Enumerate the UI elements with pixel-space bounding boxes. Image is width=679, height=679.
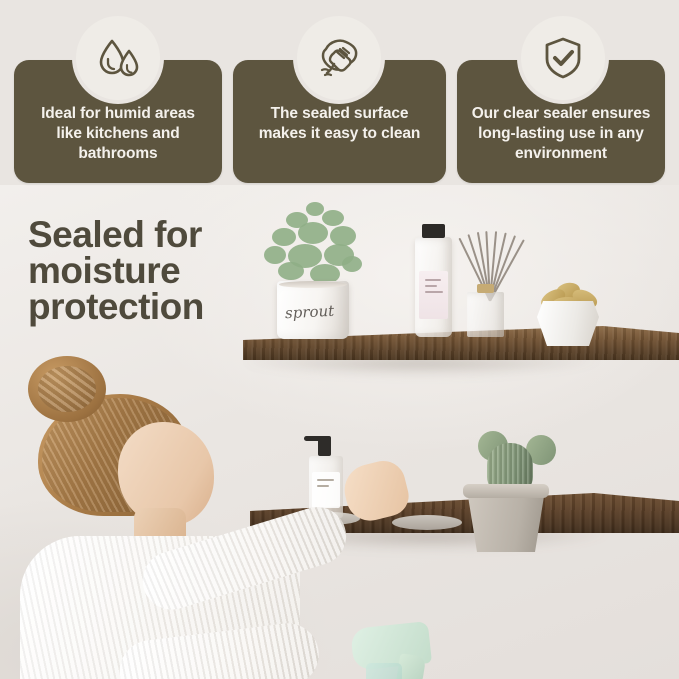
feature-card-text: Our clear sealer ensures long-lasting us… [465,104,657,164]
greenery-foliage [258,200,374,290]
page-title: Sealed for moisture protection [28,217,258,325]
feature-text-line: Ideal for humid areas [22,104,214,124]
feature-badge-clear-sealer [521,16,605,100]
shield-check-icon [536,31,590,85]
feature-text-line: Our clear sealer ensures [465,104,657,124]
girl-figure [0,350,294,679]
spray-bottle-neck [366,663,402,679]
hand-wiping-cloth-icon [312,31,366,85]
feature-text-line: makes it easy to clean [241,124,438,144]
pot-label: sprout [285,302,335,323]
girl-hair-bun [28,356,106,422]
feature-badge-easy-clean [297,16,381,100]
pump-head [318,436,331,456]
feature-text-line: bathrooms [22,144,214,164]
top-shelf-wall-shadow [247,358,677,384]
feature-badge-humid-areas [76,16,160,100]
water-droplets-icon [91,31,145,85]
feature-card-row: Ideal for humid areas like kitchens and … [0,0,679,195]
feature-card-text: Ideal for humid areas like kitchens and … [22,104,214,164]
secondary-tray [392,515,462,530]
feature-card-text: The sealed surface makes it easy to clea… [241,104,438,144]
geometric-white-pot [537,301,599,346]
soap-label [312,472,340,508]
white-plant-pot: sprout [277,281,349,339]
headline-line-3: protection [28,289,258,325]
headline-line-1: Sealed for [28,217,258,253]
oil-bottle [415,237,452,337]
terracotta-pot [467,490,545,552]
diffuser-reeds [455,223,535,301]
bottle-label [419,271,448,319]
reed-diffuser-bottle [467,292,504,337]
headline-line-2: moisture [28,253,258,289]
terracotta-pot-rim [463,484,549,498]
feature-text-line: The sealed surface [241,104,438,124]
diffuser-collar [477,284,494,293]
product-infographic: sprout [0,0,679,679]
feature-text-line: environment [465,144,657,164]
feature-text-line: like kitchens and [22,124,214,144]
bottle-cap [422,224,445,238]
feature-text-line: long-lasting use in any [465,124,657,144]
